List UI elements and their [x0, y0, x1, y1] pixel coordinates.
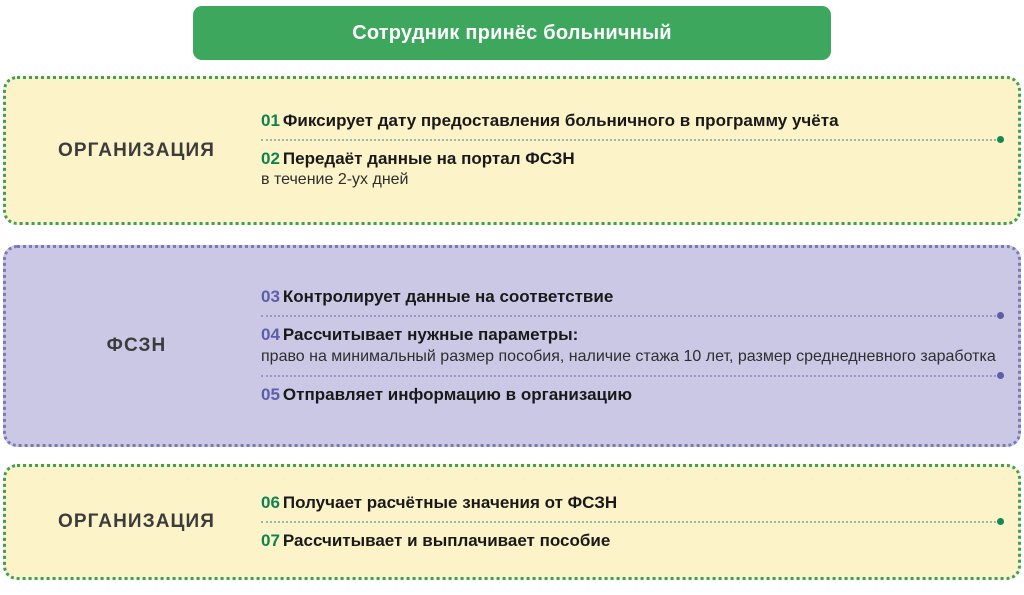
step-text-05: Отправляет информацию в организацию	[283, 385, 632, 404]
section-label-organization-2: ОРГАНИЗАЦИЯ	[6, 511, 261, 533]
infographic-root: Сотрудник принёс больничный ОРГАНИЗАЦИЯ …	[0, 0, 1024, 595]
step-row-02: 02Передаёт данные на портал ФСЗН в течен…	[261, 139, 1004, 199]
step-text-07: Рассчитывает и выплачивает пособие	[283, 531, 610, 550]
step-main-07: 07Рассчитывает и выплачивает пособие	[261, 530, 1004, 552]
step-sub-02: в течение 2-ух дней	[261, 170, 1004, 191]
step-text-06: Получает расчётные значения от ФСЗН	[283, 493, 617, 512]
section-label-fszn: ФСЗН	[6, 335, 261, 357]
section-rows-organization-1: 01Фиксирует дату предоставления больничн…	[261, 79, 1018, 222]
step-text-04: Рассчитывает нужные параметры:	[283, 325, 578, 344]
section-label-organization-1: ОРГАНИЗАЦИЯ	[6, 140, 261, 162]
page-title: Сотрудник принёс больничный	[352, 22, 672, 45]
section-fszn: ФСЗН 03Контролирует данные на соответств…	[3, 245, 1021, 447]
step-number-05: 05	[261, 385, 280, 404]
section-rows-fszn: 03Контролирует данные на соответствие 04…	[261, 248, 1018, 444]
step-row-07: 07Рассчитывает и выплачивает пособие	[261, 521, 1004, 559]
step-row-04: 04Рассчитывает нужные параметры: право н…	[261, 315, 1004, 375]
step-main-03: 03Контролирует данные на соответствие	[261, 286, 1004, 308]
step-main-02: 02Передаёт данные на портал ФСЗН	[261, 148, 1004, 170]
step-text-01: Фиксирует дату предоставления больничног…	[283, 111, 839, 130]
step-main-06: 06Получает расчётные значения от ФСЗН	[261, 492, 1004, 514]
step-row-01: 01Фиксирует дату предоставления больничн…	[261, 103, 1004, 139]
step-row-03: 03Контролирует данные на соответствие	[261, 279, 1004, 315]
section-organization-2: ОРГАНИЗАЦИЯ 06Получает расчётные значени…	[3, 464, 1021, 580]
header-banner: Сотрудник принёс больничный	[193, 6, 831, 60]
step-main-04: 04Рассчитывает нужные параметры:	[261, 324, 1004, 346]
step-text-03: Контролирует данные на соответствие	[283, 287, 613, 306]
step-row-06: 06Получает расчётные значения от ФСЗН	[261, 485, 1004, 521]
header-region: Сотрудник принёс больничный	[0, 0, 1024, 66]
step-text-02: Передаёт данные на портал ФСЗН	[283, 149, 575, 168]
step-row-05: 05Отправляет информацию в организацию	[261, 375, 1004, 413]
section-organization-1: ОРГАНИЗАЦИЯ 01Фиксирует дату предоставле…	[3, 76, 1021, 225]
step-number-01: 01	[261, 111, 280, 130]
step-sub-04: право на минимальный размер пособия, нал…	[261, 347, 1004, 368]
step-number-02: 02	[261, 149, 280, 168]
step-number-03: 03	[261, 287, 280, 306]
step-main-05: 05Отправляет информацию в организацию	[261, 384, 1004, 406]
step-number-07: 07	[261, 531, 280, 550]
step-number-06: 06	[261, 493, 280, 512]
step-number-04: 04	[261, 325, 280, 344]
section-rows-organization-2: 06Получает расчётные значения от ФСЗН 07…	[261, 467, 1018, 577]
step-main-01: 01Фиксирует дату предоставления больничн…	[261, 110, 1004, 132]
